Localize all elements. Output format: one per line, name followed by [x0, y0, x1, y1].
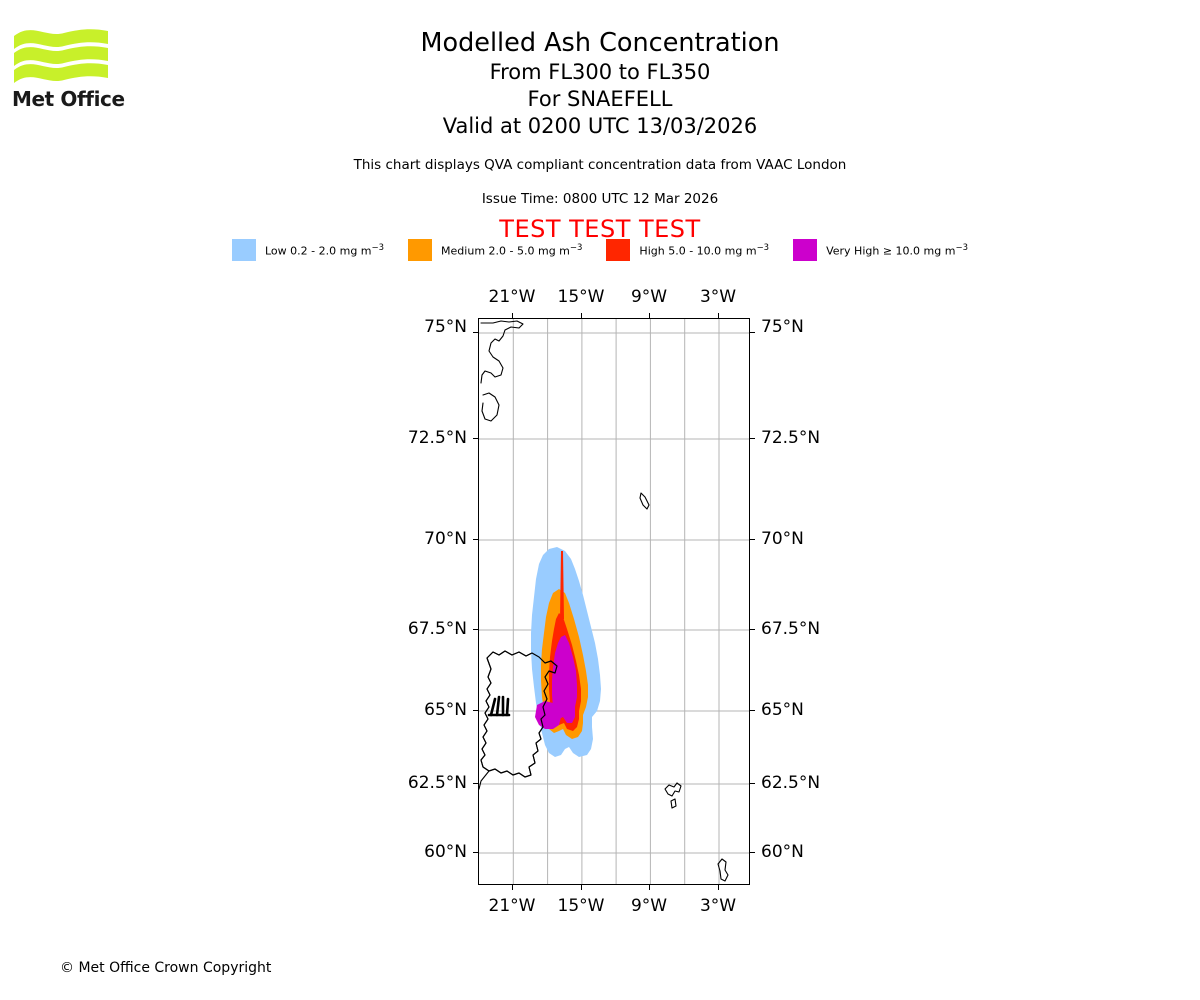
axis-label-lat-left-60: 60°N: [424, 842, 467, 862]
volcano-subtitle: For SNAEFELL: [0, 86, 1200, 113]
axis-label-lat-left-70: 70°N: [424, 529, 467, 549]
axis-label-lon-bottom-9w: 9°W: [631, 896, 667, 916]
legend-item-very-high: Very High ≥ 10.0 mg m−3: [793, 239, 968, 261]
legend-item-low: Low 0.2 - 2.0 mg m−3: [232, 239, 384, 261]
tick-lat-right-60: [750, 852, 755, 853]
flight-level-subtitle: From FL300 to FL350: [0, 59, 1200, 86]
map-canvas: [479, 319, 750, 885]
tick-lat-right-70: [750, 539, 755, 540]
axis-label-lat-right-62p5: 62.5°N: [761, 773, 820, 793]
tick-lon-bottom-15w: [581, 885, 582, 890]
coastlines: [479, 321, 728, 885]
tick-lon-top-15w: [581, 313, 582, 318]
axis-label-lat-left-62p5: 62.5°N: [408, 773, 467, 793]
tick-lat-right-72p5: [750, 438, 755, 439]
tick-lat-right-65: [750, 710, 755, 711]
axis-label-lat-left-72p5: 72.5°N: [408, 428, 467, 448]
tick-lat-right-67p5: [750, 629, 755, 630]
tick-lat-right-62p5: [750, 783, 755, 784]
legend-label-very-high: Very High ≥ 10.0 mg m−3: [826, 243, 968, 258]
qva-note: This chart displays QVA compliant concen…: [0, 157, 1200, 173]
concentration-legend: Low 0.2 - 2.0 mg m−3 Medium 2.0 - 5.0 mg…: [0, 239, 1200, 261]
issue-time: Issue Time: 0800 UTC 12 Mar 2026: [0, 191, 1200, 207]
axis-label-lon-top-3w: 3°W: [700, 287, 736, 307]
axis-label-lat-right-60: 60°N: [761, 842, 804, 862]
legend-swatch-very-high: [793, 239, 817, 261]
volcano-symbol-icon: [489, 697, 509, 715]
axis-label-lat-left-75: 75°N: [424, 317, 467, 337]
axis-label-lat-right-70: 70°N: [761, 529, 804, 549]
legend-swatch-medium: [408, 239, 432, 261]
tick-lon-top-3w: [718, 313, 719, 318]
ash-concentration-map: 21°W 15°W 9°W 3°W 21°W 15°W 9°W 3°W 75°N…: [478, 318, 750, 885]
axis-label-lat-right-75: 75°N: [761, 317, 804, 337]
legend-label-high: High 5.0 - 10.0 mg m−3: [639, 243, 769, 258]
legend-item-high: High 5.0 - 10.0 mg m−3: [606, 239, 769, 261]
axis-label-lat-right-67p5: 67.5°N: [761, 619, 820, 639]
axis-label-lat-right-65: 65°N: [761, 700, 804, 720]
latitude-gridlines: [479, 333, 750, 853]
tick-lat-right-75: [750, 332, 755, 333]
tick-lon-bottom-3w: [718, 885, 719, 890]
tick-lat-left-72p5: [473, 438, 478, 439]
tick-lat-left-67p5: [473, 629, 478, 630]
tick-lat-left-62p5: [473, 783, 478, 784]
legend-swatch-low: [232, 239, 256, 261]
valid-time-subtitle: Valid at 0200 UTC 13/03/2026: [0, 113, 1200, 140]
tick-lon-top-9w: [649, 313, 650, 318]
legend-label-low: Low 0.2 - 2.0 mg m−3: [265, 243, 384, 258]
legend-label-medium: Medium 2.0 - 5.0 mg m−3: [441, 243, 582, 258]
axis-label-lon-bottom-21w: 21°W: [489, 896, 536, 916]
axis-label-lat-left-65: 65°N: [424, 700, 467, 720]
legend-swatch-high: [606, 239, 630, 261]
axis-label-lon-bottom-15w: 15°W: [558, 896, 605, 916]
map-frame: [478, 318, 750, 885]
tick-lon-bottom-9w: [649, 885, 650, 890]
chart-title-block: Modelled Ash Concentration From FL300 to…: [0, 28, 1200, 140]
copyright-notice: © Met Office Crown Copyright: [60, 960, 271, 976]
tick-lat-left-75: [473, 332, 478, 333]
axis-label-lon-top-15w: 15°W: [558, 287, 605, 307]
tick-lon-top-21w: [512, 313, 513, 318]
tick-lat-left-60: [473, 852, 478, 853]
page-title: Modelled Ash Concentration: [0, 28, 1200, 59]
tick-lat-left-65: [473, 710, 478, 711]
axis-label-lat-left-67p5: 67.5°N: [408, 619, 467, 639]
axis-label-lon-top-9w: 9°W: [631, 287, 667, 307]
legend-item-medium: Medium 2.0 - 5.0 mg m−3: [408, 239, 582, 261]
tick-lon-bottom-21w: [512, 885, 513, 890]
tick-lat-left-70: [473, 539, 478, 540]
axis-label-lon-bottom-3w: 3°W: [700, 896, 736, 916]
axis-label-lon-top-21w: 21°W: [489, 287, 536, 307]
axis-label-lat-right-72p5: 72.5°N: [761, 428, 820, 448]
